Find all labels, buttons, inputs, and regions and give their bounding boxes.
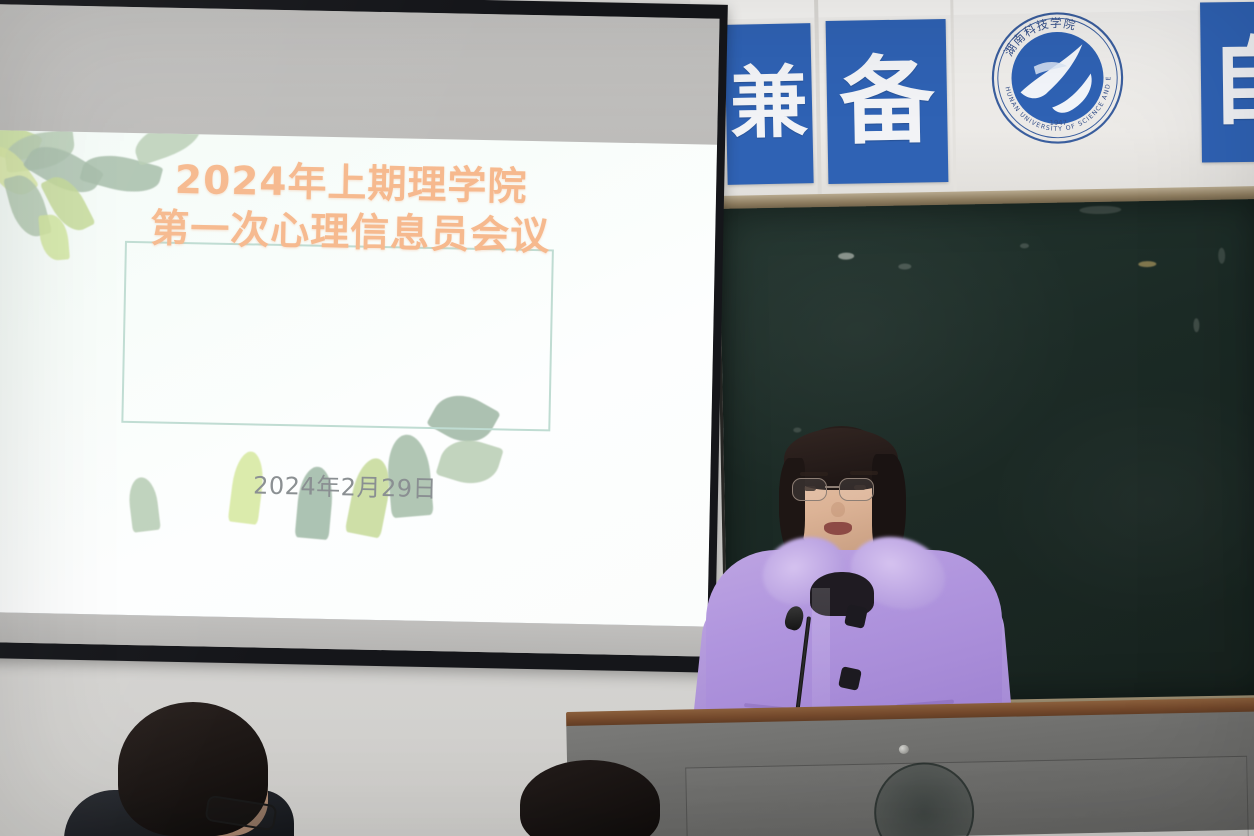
screen-frame: 2024年上期理学院 第一次心理信息员会议 2024年2月29日 心理委员培训 <box>0 0 728 673</box>
lens-right <box>839 478 874 501</box>
slide-title: 2024年上期理学院 第一次心理信息员会议 <box>0 152 717 265</box>
slide-title-box <box>121 241 554 432</box>
svg-text:1947: 1947 <box>1050 119 1068 127</box>
university-logo: 湖南科技学院 HUNAN UNIVERSITY OF SCIENCE AND E… <box>988 7 1127 149</box>
presentation-slide: 2024年上期理学院 第一次心理信息员会议 2024年2月29日 <box>0 130 717 627</box>
projection-screen: 2024年上期理学院 第一次心理信息员会议 2024年2月29日 心理委员培训 <box>0 0 746 690</box>
eyebrow-right <box>850 471 878 475</box>
glasses-icon <box>792 478 890 500</box>
screen-surface: 2024年上期理学院 第一次心理信息员会议 2024年2月29日 心理委员培训 <box>0 4 720 657</box>
mouth <box>824 522 852 535</box>
lens-left <box>792 478 827 501</box>
banner-plaque-zi: 自 <box>1200 2 1254 163</box>
lectern-body <box>566 711 1254 836</box>
slide-date: 2024年2月29日 <box>0 460 710 510</box>
eyebrow-left <box>800 472 828 476</box>
nose <box>831 502 845 517</box>
lectern-screw <box>899 745 909 754</box>
lectern <box>566 697 1254 836</box>
glasses-bridge <box>825 486 839 488</box>
banner-char-bei: 备 <box>839 53 936 150</box>
photo-scene: 兼 备 自 湖南科技学院 HUNAN UNIVERSITY OF SCIENCE… <box>0 0 1254 836</box>
banner-plaque-bei: 备 <box>826 19 949 184</box>
jacket-toggle-bottom <box>838 666 862 691</box>
screen-blank-top <box>0 4 720 145</box>
presenter <box>700 420 1000 750</box>
banner-char-zi: 自 <box>1208 34 1254 130</box>
jacket-toggle-top <box>844 604 868 629</box>
